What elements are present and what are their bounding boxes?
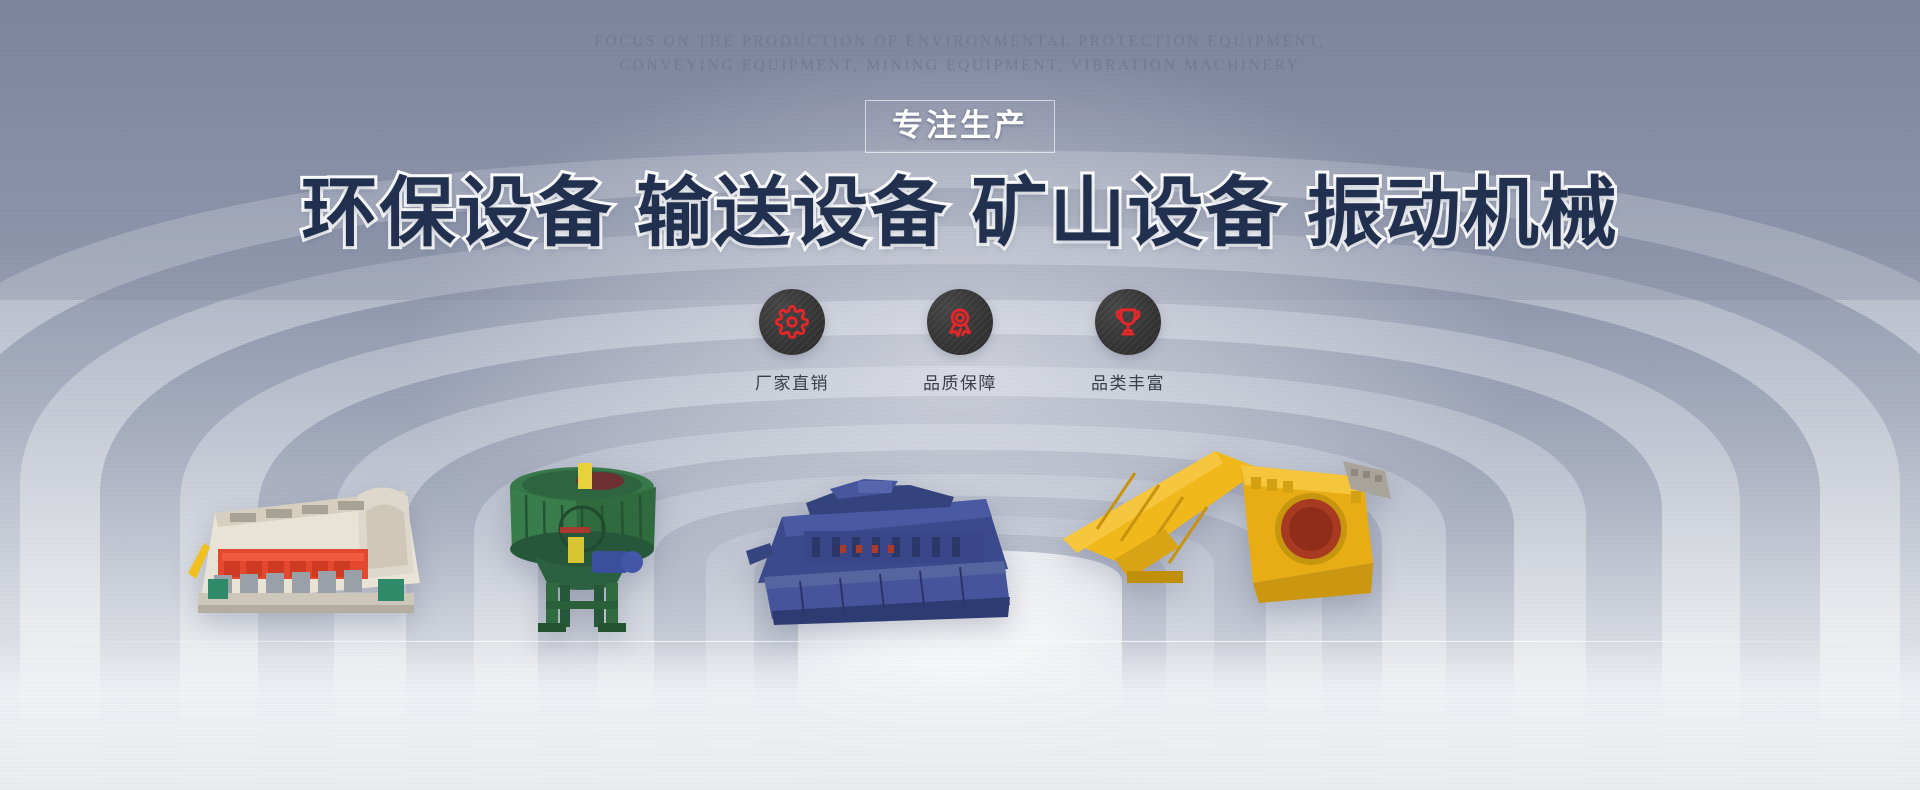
trophy-icon-circle (1095, 289, 1161, 355)
feature-item-quality-guarantee[interactable]: 品质保障 (904, 289, 1016, 394)
feature-item-rich-categories[interactable]: 品类丰富 (1072, 289, 1184, 394)
gear-icon-circle (759, 289, 825, 355)
medal-icon-circle (927, 289, 993, 355)
banner-content: FOCUS ON THE PRODUCTION OF ENVIRONMENTAL… (0, 0, 1920, 394)
hero-banner: FOCUS ON THE PRODUCTION OF ENVIRONMENTAL… (0, 0, 1920, 790)
feature-label-manufacturer-direct: 厂家直销 (736, 369, 848, 394)
floor-horizon-line (0, 641, 1920, 642)
page-title: 环保设备 输送设备 矿山设备 振动机械 (0, 175, 1920, 253)
gear-icon (775, 305, 809, 339)
feature-item-manufacturer-direct[interactable]: 厂家直销 (736, 289, 848, 394)
floor-plane (0, 640, 1920, 790)
trophy-icon (1111, 305, 1145, 339)
focus-production-badge: 专注生产 (865, 100, 1055, 153)
kicker-tagline: FOCUS ON THE PRODUCTION OF ENVIRONMENTAL… (0, 30, 1920, 78)
medal-icon (943, 305, 977, 339)
badge-wrapper: 专注生产 (0, 100, 1920, 153)
feature-label-quality-guarantee: 品质保障 (904, 369, 1016, 394)
feature-list: 厂家直销 品质保障 (0, 289, 1920, 394)
feature-label-rich-categories: 品类丰富 (1072, 369, 1184, 394)
